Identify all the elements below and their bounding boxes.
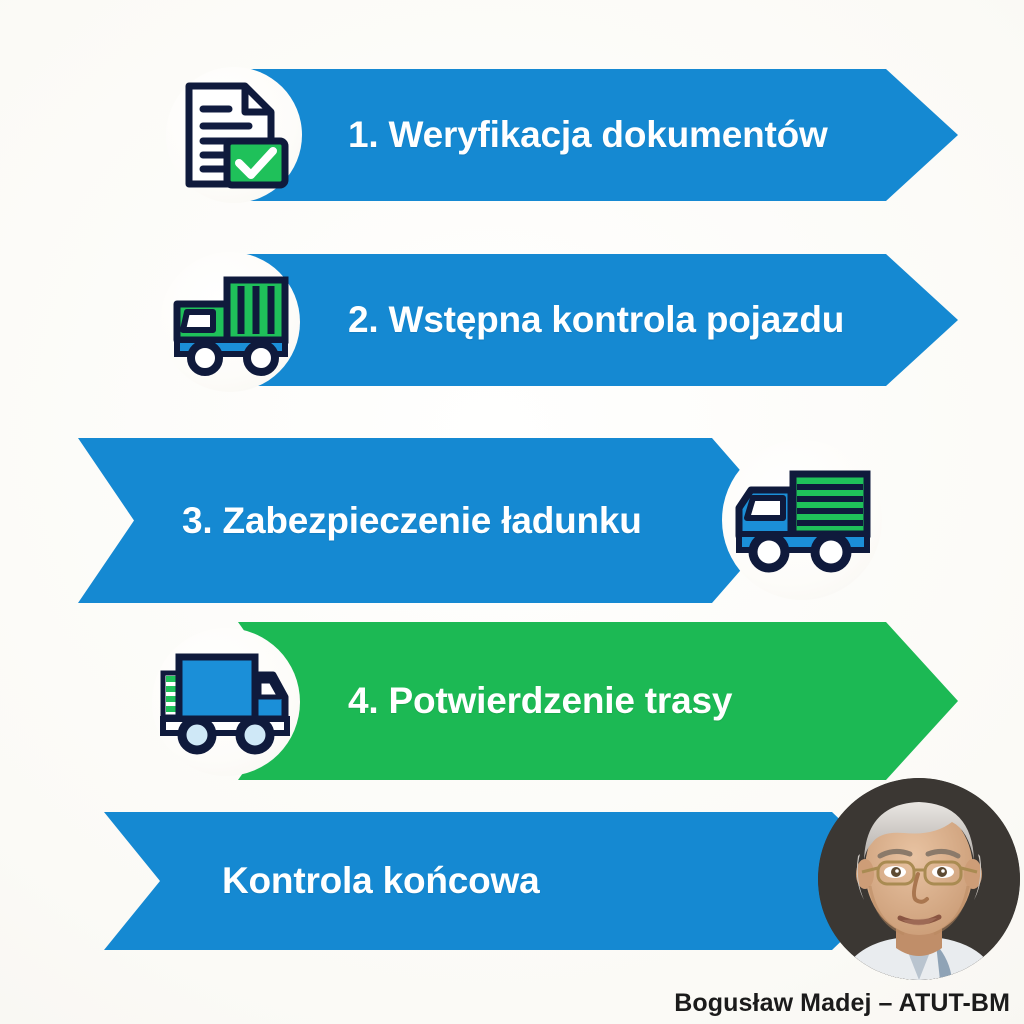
step-3-arrow[interactable]: 3. Zabezpieczenie ładunku [78, 438, 784, 603]
process-diagram: 1. Weryfikacja dokumentów [0, 0, 1024, 1024]
step-5-arrow[interactable]: Kontrola końcowa [104, 812, 904, 950]
step-3-icon-disc [722, 440, 882, 600]
green-box-truck-icon [165, 268, 295, 376]
step-2-arrow[interactable]: 2. Wstępna kontrola pojazdu [238, 254, 958, 386]
process-step-1[interactable]: 1. Weryfikacja dokumentów [0, 69, 1024, 201]
step-4-arrow[interactable]: 4. Potwierdzenie trasy [238, 622, 958, 780]
process-step-2[interactable]: 2. Wstępna kontrola pojazdu [0, 254, 1024, 386]
step-4-icon-disc [152, 628, 300, 776]
blue-cab-green-cargo-truck-icon [727, 464, 877, 576]
step-1-icon-disc [166, 67, 302, 203]
step-3-label: 3. Zabezpieczenie ładunku [78, 500, 642, 542]
step-5-label: Kontrola końcowa [104, 860, 540, 902]
step-2-label: 2. Wstępna kontrola pojazdu [238, 299, 844, 341]
document-check-icon [175, 79, 293, 191]
step-4-label: 4. Potwierdzenie trasy [238, 680, 732, 722]
step-1-label: 1. Weryfikacja dokumentów [238, 114, 828, 156]
process-step-4[interactable]: 4. Potwierdzenie trasy [0, 622, 1024, 780]
credit-line: Bogusław Madej – ATUT-BM [674, 989, 1010, 1018]
avatar [818, 778, 1020, 980]
process-step-3[interactable]: 3. Zabezpieczenie ładunku [0, 438, 1024, 603]
step-1-arrow[interactable]: 1. Weryfikacja dokumentów [238, 69, 958, 201]
blue-delivery-truck-icon [155, 647, 297, 757]
step-2-icon-disc [160, 252, 300, 392]
